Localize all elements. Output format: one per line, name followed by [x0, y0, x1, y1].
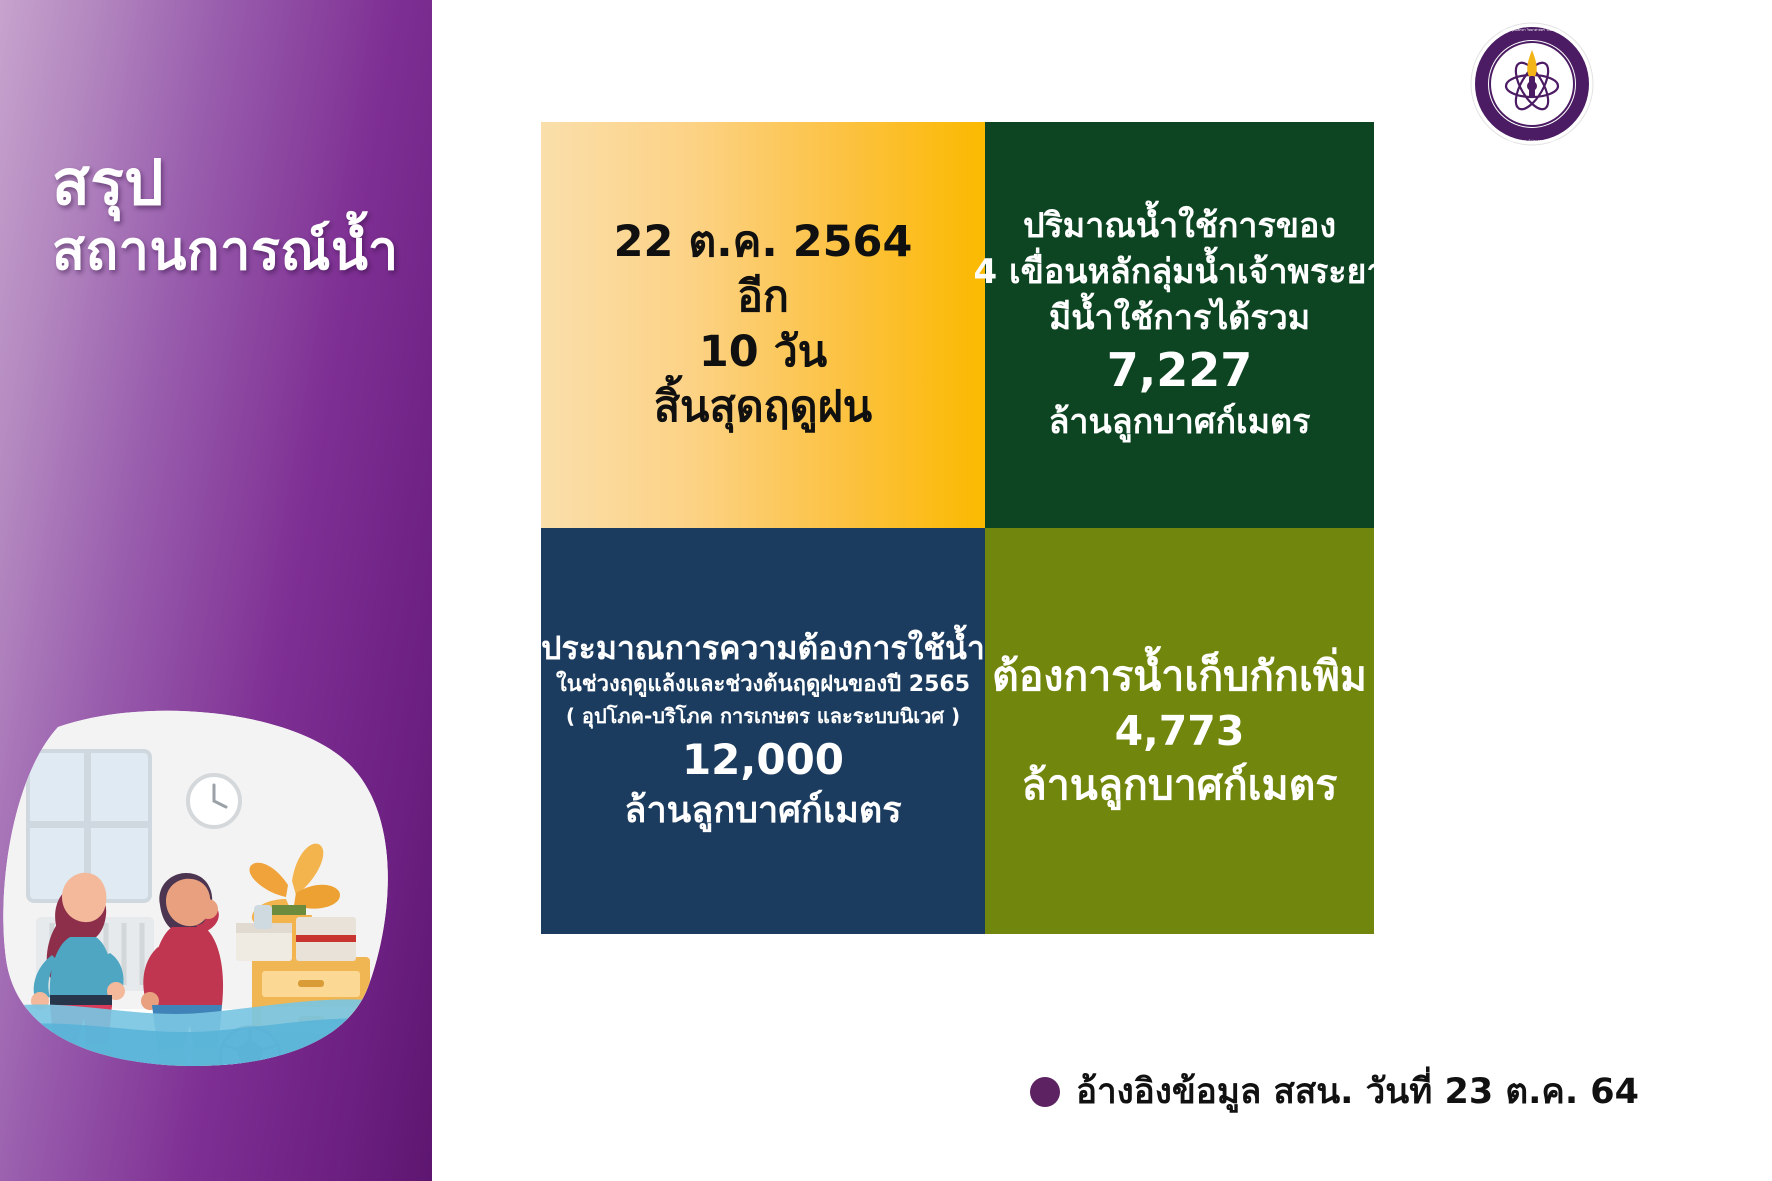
olive-value: 4,773 [1115, 704, 1245, 759]
blue-heading: ประมาณการความต้องการใช้น้ำ [541, 628, 985, 670]
green-line-3: มีน้ำใช้การได้รวม [1049, 296, 1310, 342]
quadrant-additional-storage-needed: ต้องการน้ำเก็บกักเพิ่ม 4,773 ล้านลูกบาศก… [985, 528, 1374, 934]
infographic-poster: สรุป สถานการณ์น้ำ [0, 0, 1772, 1181]
olive-heading: ต้องการน้ำเก็บกักเพิ่ม [992, 649, 1367, 704]
title-line-1: สรุป [52, 148, 422, 217]
blue-subline-1: ในช่วงฤดูแล้งและช่วงต้นฤดูฝนของปี 2565 [556, 669, 970, 701]
countdown-label: สิ้นสุดฤดูฝน [654, 380, 872, 435]
olive-unit: ล้านลูกบาศก์เมตร [1022, 758, 1338, 813]
title-line-2: สถานการณ์น้ำ [52, 221, 422, 281]
green-line-2: 4 เขื่อนหลักลุ่มน้ำเจ้าพระยา [973, 250, 1385, 296]
blue-subline-2: ( อุปโภค-บริโภค การเกษตร และระบบนิเวศ ) [566, 701, 960, 732]
blue-value: 12,000 [682, 732, 844, 787]
green-unit: ล้านลูกบาศก์เมตร [1049, 400, 1311, 446]
quadrant-usable-water-four-dams: ปริมาณน้ำใช้การของ 4 เขื่อนหลักลุ่มน้ำเจ… [985, 122, 1374, 528]
green-value: 7,227 [1107, 341, 1253, 400]
countdown-prefix: อีก [737, 270, 789, 325]
left-purple-panel: สรุป สถานการณ์น้ำ [0, 0, 432, 1181]
footer-credit: อ้างอิงข้อมูล สสน. วันที่ 23 ต.ค. 64 [1030, 1064, 1639, 1119]
quadrant-estimated-water-demand: ประมาณการความต้องการใช้น้ำ ในช่วงฤดูแล้ง… [541, 528, 985, 934]
bullet-dot-icon [1030, 1077, 1060, 1107]
flood-illustration [0, 709, 400, 1089]
quadrant-grid: 22 ต.ค. 2564 อีก 10 วัน สิ้นสุดฤดูฝน ปริ… [541, 122, 1374, 934]
footer-credit-text: อ้างอิงข้อมูล สสน. วันที่ 23 ต.ค. 64 [1076, 1064, 1639, 1119]
ministry-logo-icon: กระทรวงการอุดมศึกษา วิทยาศาสตร์ วิจัยและ… [1468, 20, 1596, 148]
quadrant-rainy-season-countdown: 22 ต.ค. 2564 อีก 10 วัน สิ้นสุดฤดูฝน [541, 122, 985, 528]
countdown-days: 10 วัน [699, 325, 827, 380]
green-line-1: ปริมาณน้ำใช้การของ [1023, 204, 1336, 250]
countdown-date: 22 ต.ค. 2564 [614, 215, 913, 270]
page-title: สรุป สถานการณ์น้ำ [52, 148, 422, 282]
svg-text:Ministry of Higher Education,: Ministry of Higher Education, Science, R… [1478, 139, 1586, 143]
blue-unit: ล้านลูกบาศก์เมตร [624, 788, 901, 835]
